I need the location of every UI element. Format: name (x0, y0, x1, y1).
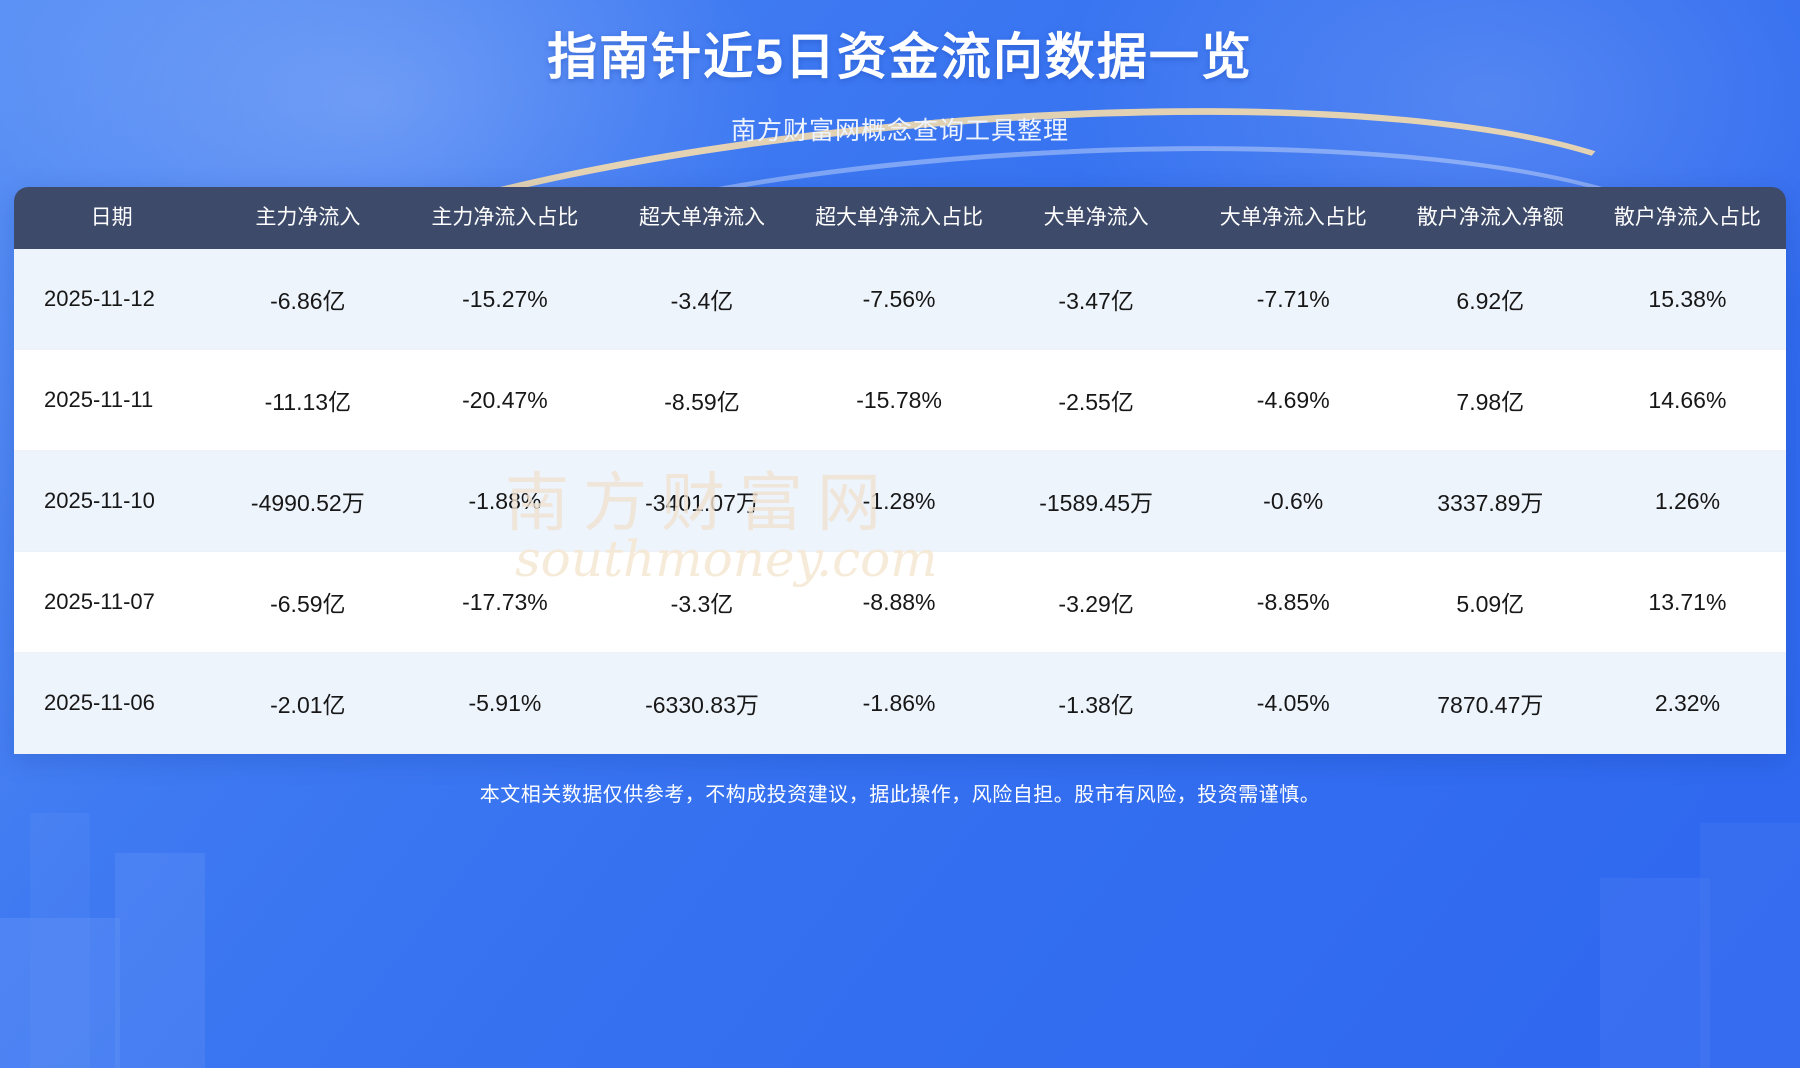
cell-xl-pct: -7.56% (801, 249, 998, 350)
cell-xl-pct: -1.86% (801, 653, 998, 754)
cell-xl-net: -3401.07万 (603, 451, 800, 552)
table-header-row: 日期 主力净流入 主力净流入占比 超大单净流入 超大单净流入占比 大单净流入 大… (14, 187, 1786, 250)
table-row: 2025-11-07 -6.59亿 -17.73% -3.3亿 -8.88% -… (14, 552, 1786, 653)
cell-retail-pct: 14.66% (1589, 350, 1786, 451)
cell-main-net: -11.13亿 (209, 350, 406, 451)
cell-date: 2025-11-11 (14, 350, 209, 451)
cell-retail-pct: 15.38% (1589, 249, 1786, 350)
table-row: 2025-11-11 -11.13亿 -20.47% -8.59亿 -15.78… (14, 350, 1786, 451)
page-title: 指南针近5日资金流向数据一览 (0, 26, 1800, 89)
cell-main-net: -6.59亿 (209, 552, 406, 653)
cell-retail-pct: 13.71% (1589, 552, 1786, 653)
column-header-main-pct[interactable]: 主力净流入占比 (406, 187, 603, 250)
cell-xl-net: -8.59亿 (603, 350, 800, 451)
cell-xl-pct: -1.28% (801, 451, 998, 552)
table-row: 2025-11-06 -2.01亿 -5.91% -6330.83万 -1.86… (14, 653, 1786, 754)
column-header-xl-pct[interactable]: 超大单净流入占比 (801, 187, 998, 250)
cell-retail-net: 5.09亿 (1392, 552, 1589, 653)
column-header-lg-pct[interactable]: 大单净流入占比 (1195, 187, 1392, 250)
cell-xl-pct: -8.88% (801, 552, 998, 653)
column-header-lg-net[interactable]: 大单净流入 (998, 187, 1195, 250)
cell-lg-net: -3.29亿 (998, 552, 1195, 653)
table-body: 2025-11-12 -6.86亿 -15.27% -3.4亿 -7.56% -… (14, 249, 1786, 754)
cell-lg-pct: -4.69% (1195, 350, 1392, 451)
cell-retail-net: 7.98亿 (1392, 350, 1589, 451)
column-header-xl-net[interactable]: 超大单净流入 (603, 187, 800, 250)
cell-date: 2025-11-06 (14, 653, 209, 754)
cell-retail-net: 7870.47万 (1392, 653, 1589, 754)
table-header: 日期 主力净流入 主力净流入占比 超大单净流入 超大单净流入占比 大单净流入 大… (14, 187, 1786, 250)
cell-xl-net: -3.4亿 (603, 249, 800, 350)
cell-lg-net: -3.47亿 (998, 249, 1195, 350)
cell-lg-pct: -8.85% (1195, 552, 1392, 653)
cell-main-net: -6.86亿 (209, 249, 406, 350)
cell-main-pct: -1.88% (406, 451, 603, 552)
column-header-retail-pct[interactable]: 散户净流入占比 (1589, 187, 1786, 250)
cell-date: 2025-11-07 (14, 552, 209, 653)
cell-main-net: -2.01亿 (209, 653, 406, 754)
cell-main-pct: -17.73% (406, 552, 603, 653)
footer-disclaimer: 本文相关数据仅供参考，不构成投资建议，据此操作，风险自担。股市有风险，投资需谨慎… (0, 754, 1800, 827)
cell-lg-pct: -7.71% (1195, 249, 1392, 350)
cell-date: 2025-11-10 (14, 451, 209, 552)
table-row: 2025-11-10 -4990.52万 -1.88% -3401.07万 -1… (14, 451, 1786, 552)
cell-main-net: -4990.52万 (209, 451, 406, 552)
cell-lg-pct: -4.05% (1195, 653, 1392, 754)
page-header: 指南针近5日资金流向数据一览 南方财富网概念查询工具整理 (0, 0, 1800, 147)
cell-lg-net: -2.55亿 (998, 350, 1195, 451)
cell-xl-net: -3.3亿 (603, 552, 800, 653)
cell-lg-net: -1.38亿 (998, 653, 1195, 754)
cell-main-pct: -5.91% (406, 653, 603, 754)
data-table-card: 日期 主力净流入 主力净流入占比 超大单净流入 超大单净流入占比 大单净流入 大… (14, 187, 1786, 755)
table-row: 2025-11-12 -6.86亿 -15.27% -3.4亿 -7.56% -… (14, 249, 1786, 350)
cell-retail-pct: 2.32% (1589, 653, 1786, 754)
column-header-main-net[interactable]: 主力净流入 (209, 187, 406, 250)
cell-date: 2025-11-12 (14, 249, 209, 350)
cell-lg-net: -1589.45万 (998, 451, 1195, 552)
cell-lg-pct: -0.6% (1195, 451, 1392, 552)
page-subtitle: 南方财富网概念查询工具整理 (0, 111, 1800, 147)
column-header-retail-net[interactable]: 散户净流入净额 (1392, 187, 1589, 250)
cell-retail-pct: 1.26% (1589, 451, 1786, 552)
cell-retail-net: 3337.89万 (1392, 451, 1589, 552)
cell-xl-pct: -15.78% (801, 350, 998, 451)
cell-main-pct: -15.27% (406, 249, 603, 350)
fund-flow-table: 日期 主力净流入 主力净流入占比 超大单净流入 超大单净流入占比 大单净流入 大… (14, 187, 1786, 755)
column-header-date[interactable]: 日期 (14, 187, 209, 250)
cell-retail-net: 6.92亿 (1392, 249, 1589, 350)
cell-xl-net: -6330.83万 (603, 653, 800, 754)
cell-main-pct: -20.47% (406, 350, 603, 451)
